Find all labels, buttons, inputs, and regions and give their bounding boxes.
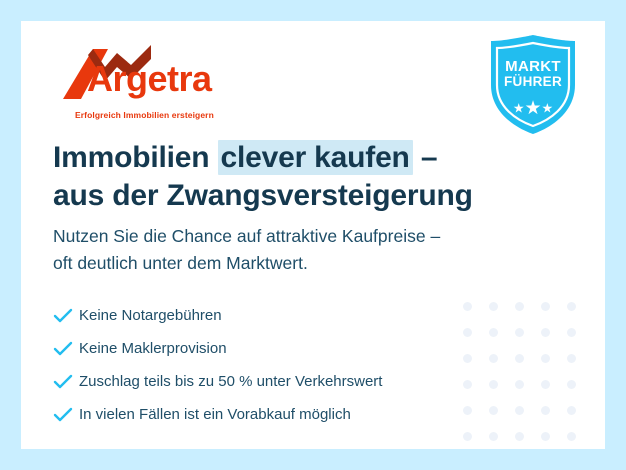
list-item-label: Keine Notargebühren — [79, 307, 222, 324]
grid-dot — [489, 432, 498, 441]
logo-tagline: Erfolgreich Immobilien ersteigern — [75, 110, 214, 120]
grid-dot — [567, 354, 576, 363]
grid-dot — [515, 380, 524, 389]
headline-post: – — [413, 141, 438, 174]
subheadline: Nutzen Sie die Chance auf attraktive Kau… — [53, 223, 553, 277]
argetra-logo[interactable]: Argetra Erfolgreich Immobilien ersteiger… — [55, 41, 255, 131]
grid-dot — [515, 406, 524, 415]
grid-dot — [541, 328, 550, 337]
check-icon — [53, 341, 79, 357]
grid-dot — [515, 328, 524, 337]
list-item: In vielen Fällen ist ein Vorabkauf mögli… — [53, 398, 513, 431]
list-item: Keine Maklerprovision — [53, 332, 513, 365]
headline-pre: Immobilien — [53, 141, 218, 174]
subheadline-line-1: Nutzen Sie die Chance auf attraktive Kau… — [53, 223, 553, 250]
grid-dot — [567, 328, 576, 337]
market-leader-badge: MARKT FÜHRER ★★★ — [485, 33, 581, 137]
grid-dot — [463, 432, 472, 441]
grid-dot — [515, 432, 524, 441]
grid-dot — [567, 380, 576, 389]
subheadline-line-2: oft deutlich unter dem Marktwert. — [53, 250, 553, 277]
grid-dot — [541, 354, 550, 363]
banner-card: Argetra Erfolgreich Immobilien ersteiger… — [21, 21, 605, 449]
shield-icon — [485, 33, 581, 137]
headline-highlight: clever kaufen — [218, 140, 413, 175]
list-item-label: In vielen Fällen ist ein Vorabkauf mögli… — [79, 406, 351, 423]
logo-wordmark: Argetra — [87, 61, 212, 97]
grid-dot — [515, 302, 524, 311]
benefit-list: Keine Notargebühren Keine Maklerprovisio… — [53, 299, 513, 431]
grid-dot — [567, 406, 576, 415]
list-item-label: Keine Maklerprovision — [79, 340, 227, 357]
grid-dot — [567, 302, 576, 311]
headline-line-2: aus der Zwangsversteigerung — [53, 177, 553, 215]
grid-dot — [541, 302, 550, 311]
ad-banner: Argetra Erfolgreich Immobilien ersteiger… — [0, 0, 626, 470]
list-item-label: Zuschlag teils bis zu 50 % unter Verkehr… — [79, 373, 382, 390]
check-icon — [53, 407, 79, 423]
check-icon — [53, 308, 79, 324]
grid-dot — [515, 354, 524, 363]
grid-dot — [541, 380, 550, 389]
headline: Immobilien clever kaufen – aus der Zwang… — [53, 139, 553, 216]
grid-dot — [541, 406, 550, 415]
grid-dot — [541, 432, 550, 441]
check-icon — [53, 374, 79, 390]
list-item: Zuschlag teils bis zu 50 % unter Verkehr… — [53, 365, 513, 398]
grid-dot — [567, 432, 576, 441]
headline-line-1: Immobilien clever kaufen – — [53, 139, 553, 177]
list-item: Keine Notargebühren — [53, 299, 513, 332]
